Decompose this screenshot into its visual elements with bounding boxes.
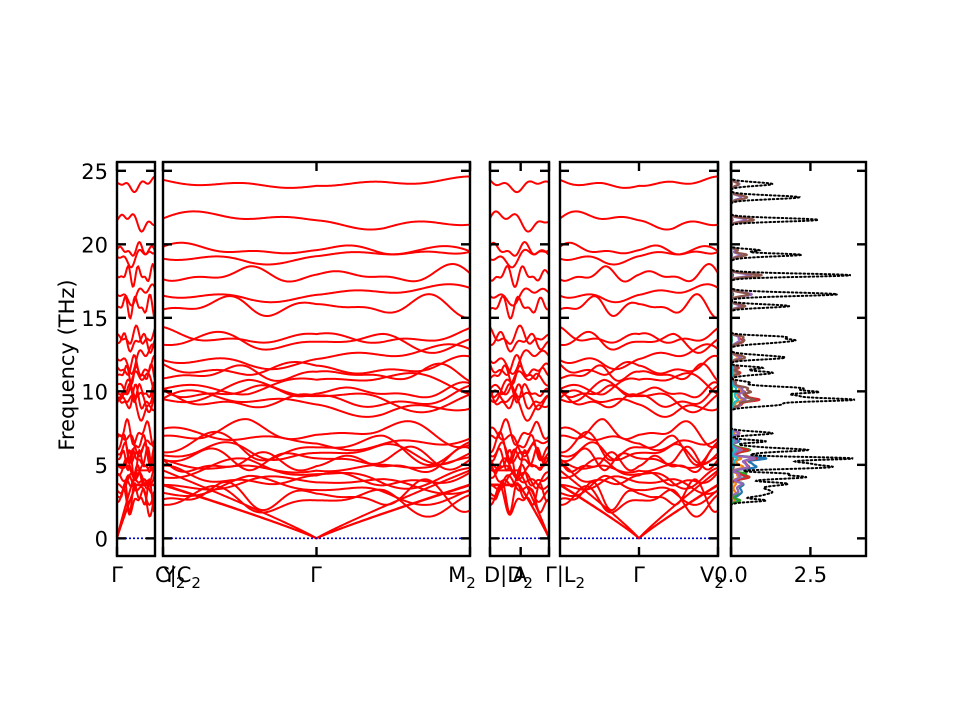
x-tick-label-main: Γ xyxy=(633,563,645,587)
x-tick-label: A xyxy=(513,563,528,587)
y-axis-label: Frequency (THz) xyxy=(55,279,79,450)
figure-background xyxy=(0,0,960,720)
x-tick-label-main: Γ xyxy=(111,563,123,587)
x-tick-label-main: Γ|L xyxy=(545,563,576,588)
y-tick-label: 15 xyxy=(81,307,108,331)
x-tick-label: Γ xyxy=(310,563,322,587)
y-tick-label: 25 xyxy=(81,160,108,184)
dos-x-tick-label: 2.5 xyxy=(794,563,827,587)
y-tick-label: 5 xyxy=(95,454,108,478)
x-tick-label-main: Y xyxy=(162,563,176,587)
dos-x-tick-label: 0.0 xyxy=(714,563,747,587)
y-tick-label: 20 xyxy=(81,233,108,257)
y-axis-label-text: Frequency (THz) xyxy=(55,279,79,450)
x-tick-label: Γ xyxy=(633,563,645,587)
phonon-figure: Frequency (THz) 0510152025 ΓC|C2Y2ΓM2D|D… xyxy=(0,0,960,720)
figure-canvas: Frequency (THz) 0510152025 ΓC|C2Y2ΓM2D|D… xyxy=(0,0,960,720)
x-tick-label-subscript: 2 xyxy=(466,574,476,592)
x-tick-label-subscript: 2 xyxy=(575,574,585,592)
x-tick-label-main: M xyxy=(448,563,466,587)
y-tick-label: 0 xyxy=(95,527,108,551)
x-tick-label: Γ xyxy=(111,563,123,587)
y-tick-label: 10 xyxy=(81,380,108,404)
x-tick-label-main: A xyxy=(513,563,528,587)
x-tick-label-main: Γ xyxy=(310,563,322,587)
x-tick-label-main: V xyxy=(700,563,715,587)
x-tick-label-subscript: 2 xyxy=(176,574,186,592)
x-tick-label-subscript: 2 xyxy=(191,574,201,592)
